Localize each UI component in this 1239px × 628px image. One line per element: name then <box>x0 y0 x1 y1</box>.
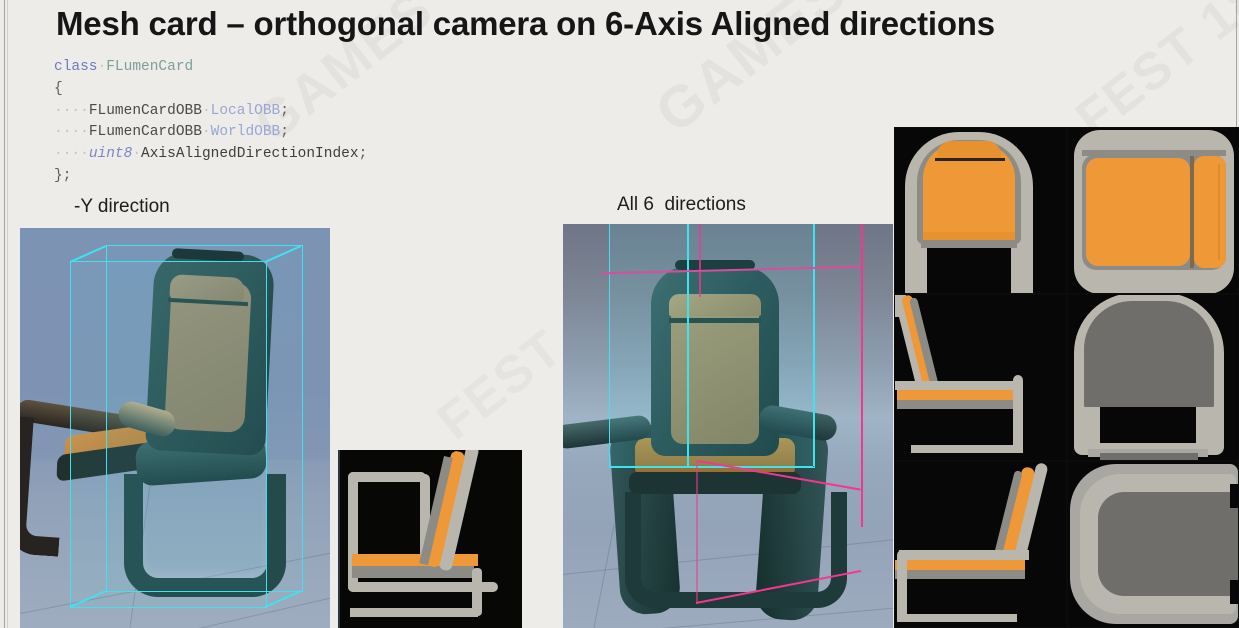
code-token: ···· <box>54 146 89 162</box>
code-token: ; <box>359 146 368 162</box>
card-direction-bottom[interactable] <box>1067 461 1239 628</box>
code-line: ····uint8·AxisAlignedDirectionIndex; <box>54 144 367 166</box>
code-token: · <box>202 124 211 140</box>
code-block: class·FLumenCard{····FLumenCardOBB·Local… <box>54 57 367 188</box>
card-direction-side-right[interactable] <box>894 461 1067 628</box>
slide-edge-line <box>4 0 5 628</box>
wireframe-box-cyan <box>20 228 330 628</box>
code-token: FLumenCardOBB <box>89 124 202 140</box>
caption-right-viewport: All 6 directions <box>617 194 746 216</box>
slide-canvas: GAMES GAMES FEST 18 FEST Mesh card – ort… <box>0 0 1239 628</box>
code-token: AxisAlignedDirectionIndex <box>141 146 359 162</box>
code-line: class·FLumenCard <box>54 57 367 79</box>
code-token: · <box>98 59 107 75</box>
code-token: { <box>54 81 63 97</box>
code-token: }; <box>54 168 71 184</box>
card-direction-top[interactable] <box>1067 127 1239 294</box>
code-token: uint8 <box>89 146 133 162</box>
wireframe-box-magenta <box>563 224 893 628</box>
code-token: FLumenCardOBB <box>89 103 202 119</box>
code-token: · <box>202 103 211 119</box>
code-token: class <box>54 59 98 75</box>
slide-title: Mesh card – orthogonal camera on 6-Axis … <box>56 5 995 43</box>
code-token: LocalOBB <box>211 103 281 119</box>
viewport-single-direction[interactable] <box>20 228 330 628</box>
code-line: ····FLumenCardOBB·LocalOBB; <box>54 101 367 123</box>
code-token: ···· <box>54 124 89 140</box>
card-thumbnail-side-view[interactable] <box>338 450 522 628</box>
code-token: ; <box>280 124 289 140</box>
code-token: WorldOBB <box>211 124 281 140</box>
code-line: }; <box>54 166 367 188</box>
viewport-all-directions[interactable] <box>563 224 893 628</box>
code-token: ; <box>280 103 289 119</box>
slide-edge-line <box>7 0 8 628</box>
watermark-text: FEST <box>426 318 574 452</box>
code-line: ····FLumenCardOBB·WorldOBB; <box>54 122 367 144</box>
six-axis-card-atlas[interactable] <box>894 127 1239 628</box>
card-direction-side-left[interactable] <box>894 294 1067 461</box>
code-line: { <box>54 79 367 101</box>
code-token: · <box>132 146 141 162</box>
card-direction-front[interactable] <box>894 127 1067 294</box>
code-token: FLumenCard <box>106 59 193 75</box>
code-token: ···· <box>54 103 89 119</box>
card-direction-back[interactable] <box>1067 294 1239 461</box>
caption-left-viewport: -Y direction <box>74 196 170 218</box>
